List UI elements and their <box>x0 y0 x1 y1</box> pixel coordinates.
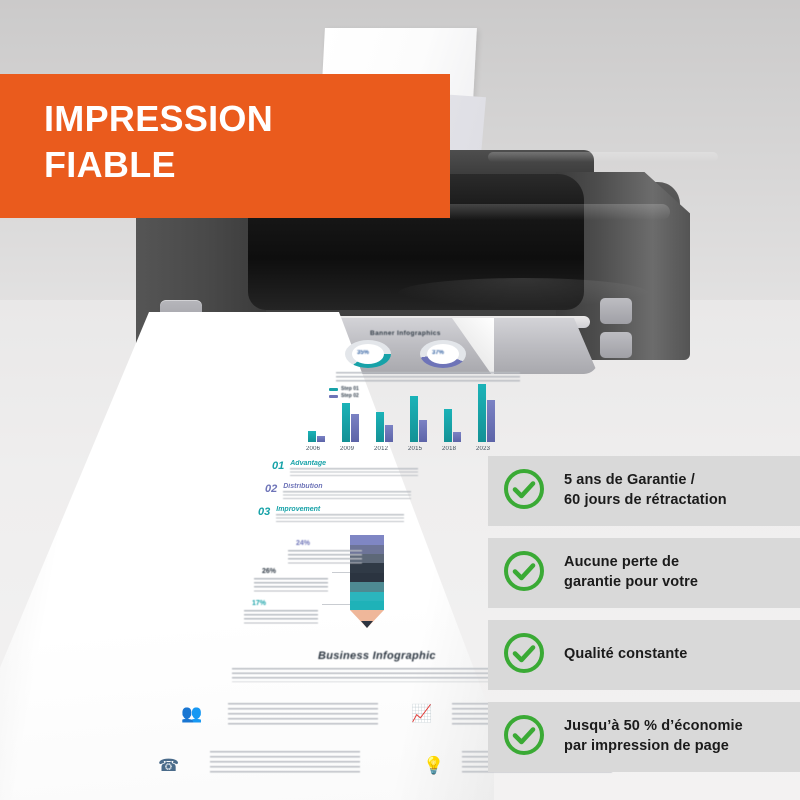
feature-card-1-line-2: 60 jours de rétractation <box>564 491 727 511</box>
feature-card-1-line-1: 5 ans de Garantie / <box>564 471 727 491</box>
printer-right-button-bottom[interactable] <box>600 332 632 358</box>
feature-card-2-line-1: Aucune perte de <box>564 553 698 573</box>
feature-card-4-text: Jusqu’à 50 % d’économie par impression d… <box>564 717 743 756</box>
headline-line-1: IMPRESSION <box>44 96 444 142</box>
headline-text: IMPRESSION FIABLE <box>44 96 444 188</box>
feature-card-4[interactable]: Jusqu’à 50 % d’économie par impression d… <box>488 702 800 772</box>
check-circle-icon <box>502 549 546 598</box>
feature-card-1[interactable]: 5 ans de Garantie / 60 jours de rétracta… <box>488 456 800 526</box>
feature-card-3-line-1: Qualité constante <box>564 645 687 665</box>
feature-card-3[interactable]: Qualité constante <box>488 620 800 690</box>
check-circle-icon <box>502 631 546 680</box>
feature-card-2-text: Aucune perte de garantie pour votre <box>564 553 698 592</box>
poster-canvas: Banner Infographics 35% 37% Step 01 Step… <box>0 0 800 800</box>
printer-lid-highlight <box>488 152 718 162</box>
feature-card-2-line-2: garantie pour votre <box>564 573 698 593</box>
headline-line-2: FIABLE <box>44 142 444 188</box>
check-circle-icon <box>502 467 546 516</box>
feature-card-1-text: 5 ans de Garantie / 60 jours de rétracta… <box>564 471 727 510</box>
feature-card-3-text: Qualité constante <box>564 645 687 665</box>
check-circle-icon <box>502 713 546 762</box>
feature-card-4-line-2: par impression de page <box>564 737 743 757</box>
printer-right-button-top[interactable] <box>600 298 632 324</box>
feature-card-4-line-1: Jusqu’à 50 % d’économie <box>564 717 743 737</box>
feature-card-2[interactable]: Aucune perte de garantie pour votre <box>488 538 800 608</box>
